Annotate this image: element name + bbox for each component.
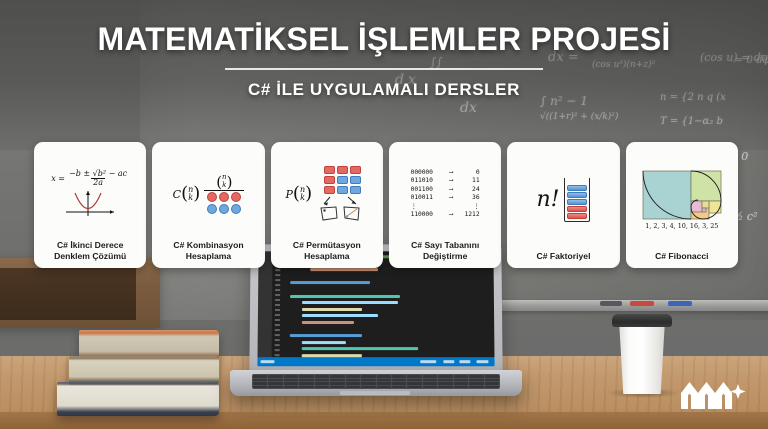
permutation-icon: P ( n k ) xyxy=(275,148,379,240)
topic-card-row: x = −b ± √b² − ac 2a C# İk xyxy=(34,142,738,268)
decimal-value: 36 xyxy=(462,194,480,203)
square xyxy=(350,186,361,194)
decimal-value: 0 xyxy=(462,169,480,178)
table-row: 001100 ⟶ 24 xyxy=(411,186,480,195)
binary-value: 110000 xyxy=(411,211,441,220)
coffee-cup xyxy=(616,322,668,394)
dot xyxy=(231,192,241,202)
whiteboard-marker-black xyxy=(600,301,622,306)
coffee-cup-lid xyxy=(612,314,672,327)
card-ikinci-derece-denklem[interactable]: x = −b ± √b² − ac 2a C# İk xyxy=(34,142,146,268)
card-label: C# Permütasyon Hesaplama xyxy=(292,240,362,263)
combination-symbol: C xyxy=(173,188,181,201)
combination-binomial: C ( n k ) xyxy=(173,186,201,203)
base-conversion-table: 000000 ⟶ 0 011010 ⟶ 11 001100 ⟶ 24 xyxy=(411,169,480,220)
laptop-keyboard[interactable] xyxy=(252,374,500,389)
parabola-graph-icon xyxy=(62,188,118,218)
card-label: C# Faktoriyel xyxy=(535,251,591,263)
dot xyxy=(231,204,241,214)
card-sayi-tabani[interactable]: 000000 ⟶ 0 011010 ⟶ 11 001100 ⟶ 24 xyxy=(389,142,501,268)
stack-bar xyxy=(567,192,587,198)
stack-bar xyxy=(567,213,587,219)
dot xyxy=(219,204,229,214)
quad-denominator: 2a xyxy=(91,178,105,187)
card-label: C# Sayı Tabanını Değiştirme xyxy=(410,240,480,263)
golden-spiral-graphic xyxy=(642,170,722,220)
table-row: 000000 ⟶ 0 xyxy=(411,169,480,178)
factorial-stack-container xyxy=(564,178,590,222)
combination-icon: C ( n k ) ( n k xyxy=(156,148,260,240)
factorial-bar-stack xyxy=(567,185,587,219)
card-faktoriyel[interactable]: n! C# Faktoriyel xyxy=(507,142,619,268)
quadratic-formula-icon: x = −b ± √b² − ac 2a xyxy=(38,148,142,240)
square xyxy=(324,166,335,174)
editor-activity-bar xyxy=(257,251,272,366)
permutation-square-grid xyxy=(324,166,361,194)
square xyxy=(324,186,335,194)
combination-dot-grid xyxy=(207,192,241,214)
page-title: MATEMATİKSEL İŞLEMLER PROJESİ xyxy=(0,21,768,58)
arrow-icon: ⟶ xyxy=(444,194,459,203)
square xyxy=(337,176,348,184)
laptop-trackpad[interactable] xyxy=(340,391,410,395)
factorial-icon: n! xyxy=(511,148,615,251)
square xyxy=(337,166,348,174)
factorial-symbol: n! xyxy=(536,189,559,211)
decimal-value: 11 xyxy=(462,177,480,186)
book-bottom xyxy=(57,382,219,416)
table-row: 110000 ⟶ 1212 xyxy=(411,211,480,220)
poster-canvas: ∫∫ dx dx = (cos u³)(n+z)² (cos u) = dm /… xyxy=(0,0,768,429)
card-fibonacci[interactable]: 1, 2, 3, 4, 10, 16, 3, 25 C# Fibonacci xyxy=(626,142,738,268)
square xyxy=(337,186,348,194)
binary-value: 000000 xyxy=(411,169,441,178)
table-row: 010011 ⟶ 36 xyxy=(411,194,480,203)
base-conversion-icon: 000000 ⟶ 0 011010 ⟶ 11 001100 ⟶ 24 xyxy=(393,148,497,240)
whiteboard-marker-red xyxy=(630,301,654,306)
quad-lhs: x = xyxy=(51,174,65,183)
arrow-icon: ⟶ xyxy=(444,169,459,178)
table-row: ⋮ ⋮ xyxy=(411,203,480,212)
bookshelf-cavity xyxy=(0,268,136,320)
editor-status-bar[interactable] xyxy=(257,357,494,366)
card-label: C# Fibonacci xyxy=(654,251,709,263)
decimal-value: 1212 xyxy=(462,211,480,220)
card-kombinasyon[interactable]: C ( n k ) ( n k xyxy=(152,142,264,268)
arrow-icon: ⟶ xyxy=(444,211,459,220)
permutation-bags-icon xyxy=(316,196,368,222)
decimal-value: 24 xyxy=(462,186,480,195)
arrow-icon: ⟶ xyxy=(444,177,459,186)
decimal-value: ⋮ xyxy=(462,203,480,212)
arrow-icon: ⟶ xyxy=(444,186,459,195)
editor-code-area xyxy=(290,255,491,354)
square xyxy=(324,176,335,184)
fibonacci-spiral-icon: 1, 2, 3, 4, 10, 16, 3, 25 xyxy=(630,148,734,251)
stack-bar xyxy=(567,206,587,212)
permutation-symbol: P xyxy=(286,188,293,201)
square xyxy=(350,176,361,184)
binary-value: 001100 xyxy=(411,186,441,195)
stack-bar xyxy=(567,185,587,191)
permutation-binomial: P ( n k ) xyxy=(286,186,313,203)
dot xyxy=(219,192,229,202)
card-permutasyon[interactable]: P ( n k ) xyxy=(271,142,383,268)
square xyxy=(350,166,361,174)
editor-line-numbers xyxy=(271,251,284,366)
bookshelf xyxy=(0,258,160,328)
stack-bar xyxy=(567,199,587,205)
dot xyxy=(207,204,217,214)
book-middle xyxy=(69,356,219,385)
quad-numerator: −b ± √b² − ac xyxy=(67,170,129,178)
card-label: C# Kombinasyon Hesaplama xyxy=(172,240,244,263)
whiteboard-marker-blue xyxy=(668,301,692,306)
table-row: 011010 ⟶ 11 xyxy=(411,177,480,186)
brand-m-logo xyxy=(680,378,746,412)
title-divider xyxy=(225,68,543,70)
page-subtitle: C# İLE UYGULAMALI DERSLER xyxy=(0,80,768,100)
binary-value: ⋮ xyxy=(411,203,441,212)
binary-value: 011010 xyxy=(411,177,441,186)
card-label: C# İkinci Derece Denklem Çözümü xyxy=(53,240,127,263)
binary-value: 010011 xyxy=(411,194,441,203)
combination-binomial-top: ( n k ) xyxy=(216,174,232,189)
dot xyxy=(207,192,217,202)
code-editor-screen[interactable] xyxy=(257,251,494,366)
fibonacci-sequence: 1, 2, 3, 4, 10, 16, 3, 25 xyxy=(645,222,718,230)
laptop-base xyxy=(230,370,522,396)
poster-header: MATEMATİKSEL İŞLEMLER PROJESİ C# İLE UYG… xyxy=(0,0,768,100)
combination-fraction-bar xyxy=(204,190,244,191)
